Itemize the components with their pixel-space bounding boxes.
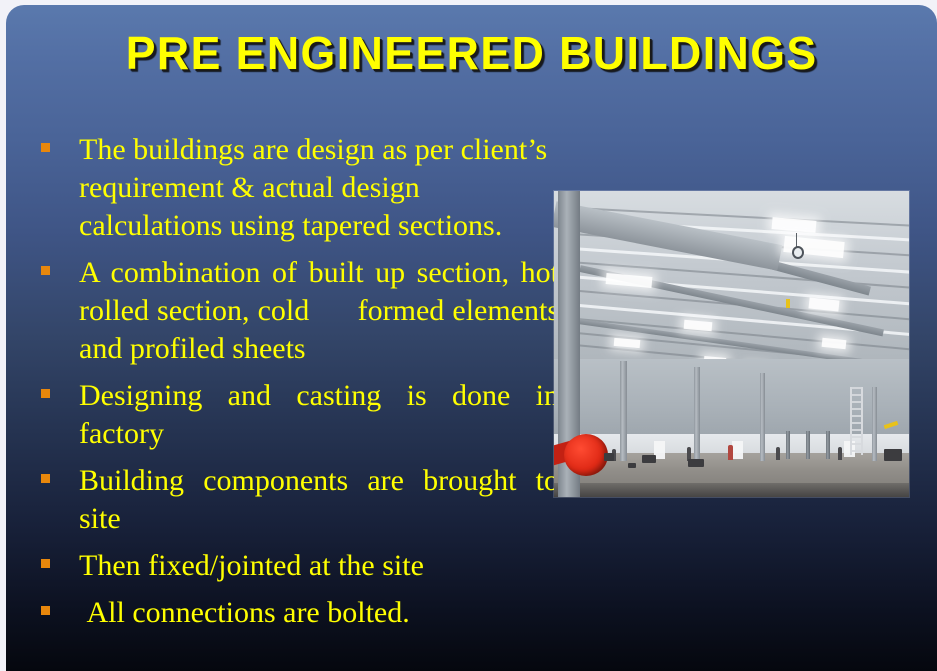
equipment <box>642 455 656 463</box>
list-item-label: All connections are bolted. <box>79 594 559 632</box>
page-title: PRE ENGINEERED BUILDINGS <box>126 27 818 79</box>
bullet-list: The buildings are design as per client’s… <box>39 131 559 641</box>
bullet-square-icon <box>41 606 50 615</box>
steel-column <box>826 431 830 459</box>
list-item-label: A combination of built up section, hot r… <box>79 254 559 368</box>
wall-opening <box>732 441 743 459</box>
list-item-label: Building components are brought to site <box>79 462 559 538</box>
red-fan <box>564 434 608 476</box>
building-interior-photo <box>554 191 909 497</box>
list-item: A combination of built up section, hot r… <box>39 254 559 368</box>
list-item-label: Then fixed/jointed at the site <box>79 547 559 585</box>
list-item: Then fixed/jointed at the site <box>39 547 559 585</box>
floor-shadow <box>554 483 909 497</box>
equipment <box>628 463 636 468</box>
yellow-marker <box>786 299 790 308</box>
steel-column <box>620 361 627 461</box>
ceiling-lamp-icon <box>792 246 804 259</box>
equipment <box>884 449 902 461</box>
bullet-square-icon <box>41 143 50 152</box>
list-item-label: The buildings are design as per client’s… <box>79 131 559 245</box>
person-silhouette <box>728 445 733 460</box>
list-item-label: Designing and casting is done in factory <box>79 377 559 453</box>
ladder <box>850 387 863 455</box>
equipment <box>688 459 704 467</box>
slide-page: PRE ENGINEERED BUILDINGS The buildings a… <box>0 0 937 671</box>
steel-column <box>872 387 877 461</box>
equipment <box>604 453 614 461</box>
list-item: All connections are bolted. <box>39 594 559 632</box>
bullet-square-icon <box>41 266 50 275</box>
lamp-wire <box>796 233 797 247</box>
steel-column <box>806 431 810 459</box>
bullet-square-icon <box>41 389 50 398</box>
list-item: Building components are brought to site <box>39 462 559 538</box>
bullet-square-icon <box>41 559 50 568</box>
person-silhouette <box>838 447 842 460</box>
bullet-square-icon <box>41 474 50 483</box>
list-item: The buildings are design as per client’s… <box>39 131 559 245</box>
presentation-slide: PRE ENGINEERED BUILDINGS The buildings a… <box>6 5 937 671</box>
steel-column <box>786 431 790 459</box>
list-item: Designing and casting is done in factory <box>39 377 559 453</box>
steel-column <box>694 367 700 461</box>
title-block: PRE ENGINEERED BUILDINGS <box>6 27 937 79</box>
steel-column <box>760 373 765 461</box>
person-silhouette <box>776 447 780 460</box>
